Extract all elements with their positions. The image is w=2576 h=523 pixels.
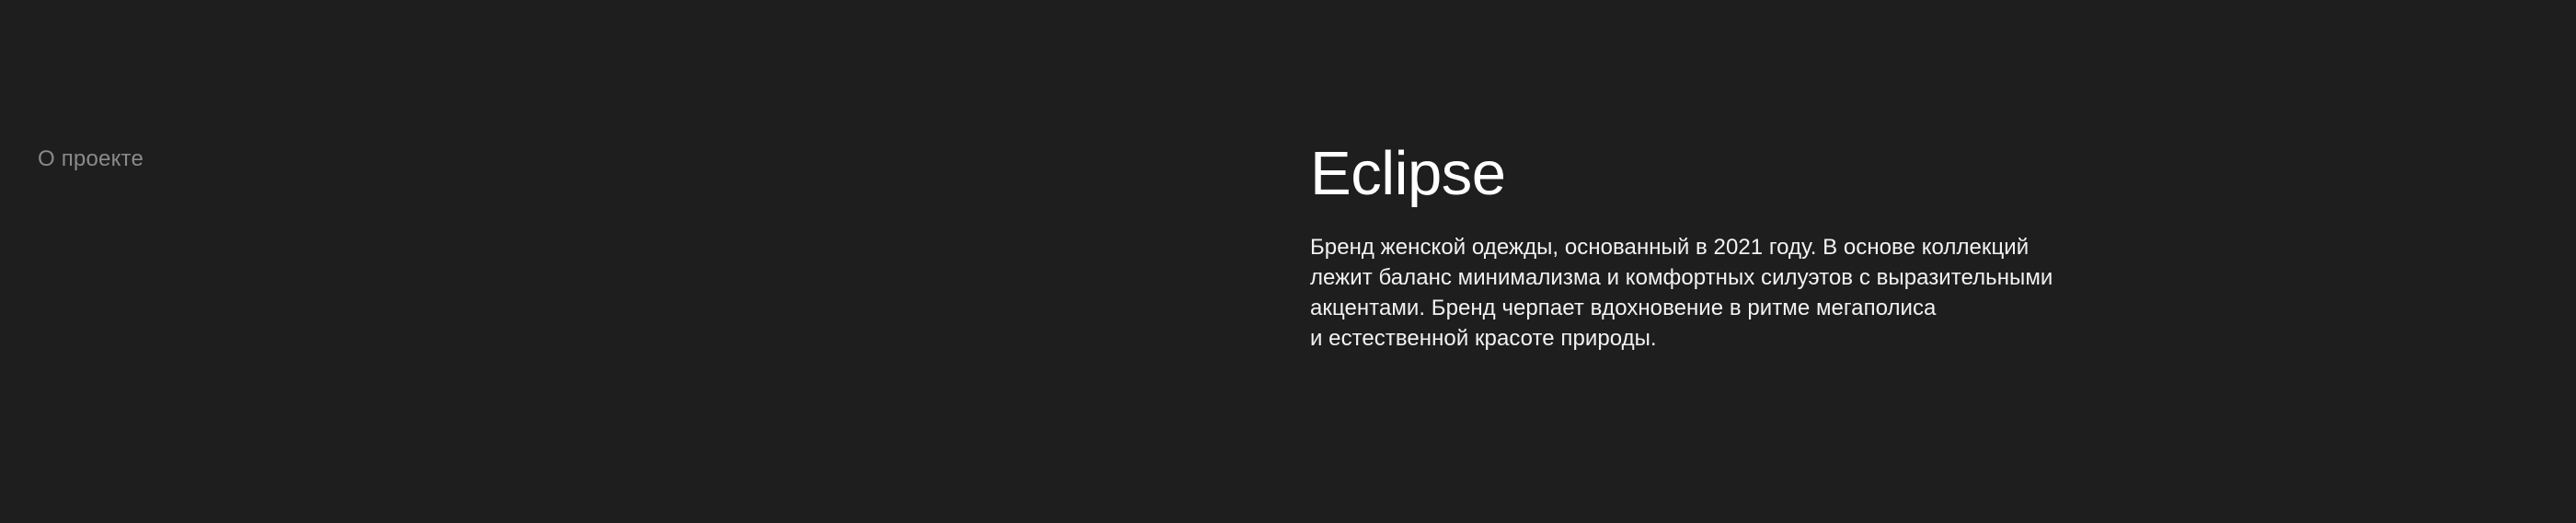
section-label-about: О проекте [38,145,144,174]
description-line: и естественной красоте природы. [1310,323,2340,354]
description-line: Бренд женской одежды, основанный в 2021 … [1310,232,2340,262]
about-section: О проекте Eclipse Бренд женской одежды, … [0,0,2576,523]
brand-heading: Eclipse [1310,138,2340,210]
brand-description: Бренд женской одежды, основанный в 2021 … [1310,210,2340,354]
about-content-column: Eclipse Бренд женской одежды, основанный… [1310,138,2340,354]
description-line: акцентами. Бренд черпает вдохновение в р… [1310,293,2340,323]
description-line: лежит баланс минимализма и комфортных си… [1310,262,2340,293]
